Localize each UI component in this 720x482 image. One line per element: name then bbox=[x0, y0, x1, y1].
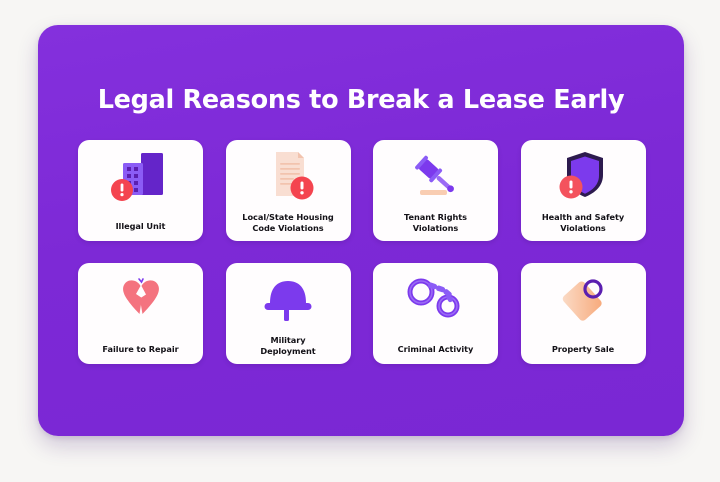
card-property-sale[interactable]: Property Sale bbox=[521, 263, 646, 364]
reasons-card-grid: Illegal Unit Local/State Housing Cod bbox=[78, 140, 644, 364]
card-health-safety-violations[interactable]: Health and Safety Violations bbox=[521, 140, 646, 241]
card-label: Illegal Unit bbox=[83, 221, 198, 232]
card-label: Property Sale bbox=[526, 344, 641, 355]
page-title: Legal Reasons to Break a Lease Early bbox=[38, 85, 684, 115]
card-label: Military Deployment bbox=[231, 335, 346, 357]
card-military-deployment[interactable]: Military Deployment bbox=[226, 263, 351, 364]
price-tag-icon bbox=[521, 271, 646, 327]
card-label: Local/State Housing Code Violations bbox=[231, 212, 346, 234]
card-failure-to-repair[interactable]: Failure to Repair bbox=[78, 263, 203, 364]
handcuffs-icon bbox=[373, 271, 498, 327]
building-alert-icon bbox=[78, 148, 203, 204]
gavel-icon bbox=[373, 148, 498, 204]
card-label: Tenant Rights Violations bbox=[378, 212, 493, 234]
card-label: Criminal Activity bbox=[378, 344, 493, 355]
document-alert-icon bbox=[226, 148, 351, 204]
infographic-panel: Legal Reasons to Break a Lease Early bbox=[38, 25, 684, 436]
card-housing-code-violations[interactable]: Local/State Housing Code Violations bbox=[226, 140, 351, 241]
card-criminal-activity[interactable]: Criminal Activity bbox=[373, 263, 498, 364]
shield-alert-icon bbox=[521, 148, 646, 204]
card-label: Health and Safety Violations bbox=[526, 212, 641, 234]
broken-heart-icon bbox=[78, 271, 203, 327]
card-tenant-rights-violations[interactable]: Tenant Rights Violations bbox=[373, 140, 498, 241]
military-helmet-icon bbox=[226, 271, 351, 327]
card-illegal-unit[interactable]: Illegal Unit bbox=[78, 140, 203, 241]
card-label: Failure to Repair bbox=[83, 344, 198, 355]
